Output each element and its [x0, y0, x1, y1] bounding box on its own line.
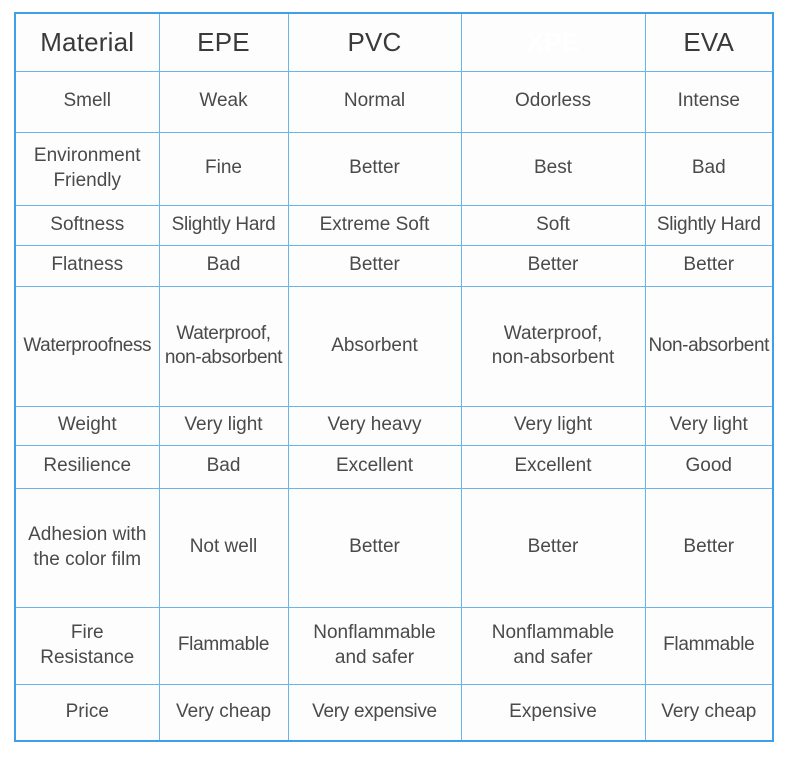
cell-smell-xpe: Odorless [461, 71, 645, 132]
cell-environment-friendly-eva: Bad [645, 132, 773, 205]
table-row: Weight Very light Very heavy Very light … [15, 406, 773, 445]
table-row: Flatness Bad Better Better Better [15, 245, 773, 286]
cell-smell-eva: Intense [645, 71, 773, 132]
row-label-smell: Smell [15, 71, 159, 132]
cell-resilience-eva: Good [645, 445, 773, 488]
cell-environment-friendly-xpe: Best [461, 132, 645, 205]
row-label-weight: Weight [15, 406, 159, 445]
cell-line1: Waterproof, [163, 322, 285, 346]
column-header-eva: EVA [645, 13, 773, 71]
cell-fire-resistance-epe: Flammable [159, 607, 288, 684]
cell-resilience-xpe: Excellent [461, 445, 645, 488]
column-header-pvc: PVC [288, 13, 461, 71]
row-label-line1: Fire [19, 621, 156, 645]
cell-weight-epe: Very light [159, 406, 288, 445]
table-row: Fire Resistance Flammable Nonflammable a… [15, 607, 773, 684]
cell-weight-eva: Very light [645, 406, 773, 445]
cell-resilience-epe: Bad [159, 445, 288, 488]
cell-adhesion-xpe: Better [461, 488, 645, 607]
cell-flatness-pvc: Better [288, 245, 461, 286]
cell-line1: Nonflammable [292, 621, 458, 645]
cell-adhesion-epe: Not well [159, 488, 288, 607]
cell-fire-resistance-xpe: Nonflammable and safer [461, 607, 645, 684]
cell-adhesion-pvc: Better [288, 488, 461, 607]
cell-softness-xpe: Soft [461, 205, 645, 245]
cell-flatness-eva: Better [645, 245, 773, 286]
cell-price-xpe: Expensive [461, 684, 645, 741]
row-label-price: Price [15, 684, 159, 741]
cell-environment-friendly-pvc: Better [288, 132, 461, 205]
row-label-line1: Environment [19, 144, 156, 168]
row-label-line2: Friendly [19, 169, 156, 193]
cell-waterproofness-pvc: Absorbent [288, 286, 461, 406]
row-label-resilience: Resilience [15, 445, 159, 488]
cell-smell-pvc: Normal [288, 71, 461, 132]
cell-softness-pvc: Extreme Soft [288, 205, 461, 245]
cell-line1: Waterproof, [465, 322, 642, 346]
row-label-environment-friendly: Environment Friendly [15, 132, 159, 205]
row-label-softness: Softness [15, 205, 159, 245]
cell-price-pvc: Very expensive [288, 684, 461, 741]
table-row: Waterproofness Waterproof, non-absorbent… [15, 286, 773, 406]
cell-line2: non-absorbent [465, 346, 642, 370]
cell-price-eva: Very cheap [645, 684, 773, 741]
cell-waterproofness-epe: Waterproof, non-absorbent [159, 286, 288, 406]
column-header-xpe: XPE [461, 13, 645, 71]
table-header-row: Material EPE PVC XPE EVA [15, 13, 773, 71]
table-row: Resilience Bad Excellent Excellent Good [15, 445, 773, 488]
table-row: Smell Weak Normal Odorless Intense [15, 71, 773, 132]
cell-line2: and safer [465, 646, 642, 670]
comparison-table-container: Material EPE PVC XPE EVA Smell Weak Norm… [14, 12, 772, 740]
row-label-waterproofness: Waterproofness [15, 286, 159, 406]
cell-resilience-pvc: Excellent [288, 445, 461, 488]
cell-fire-resistance-pvc: Nonflammable and safer [288, 607, 461, 684]
column-header-material: Material [15, 13, 159, 71]
cell-flatness-epe: Bad [159, 245, 288, 286]
table-row: Price Very cheap Very expensive Expensiv… [15, 684, 773, 741]
row-label-line2: Resistance [19, 646, 156, 670]
cell-price-epe: Very cheap [159, 684, 288, 741]
row-label-adhesion: Adhesion with the color film [15, 488, 159, 607]
cell-softness-eva: Slightly Hard [645, 205, 773, 245]
cell-softness-epe: Slightly Hard [159, 205, 288, 245]
cell-fire-resistance-eva: Flammable [645, 607, 773, 684]
cell-line2: and safer [292, 646, 458, 670]
table-row: Environment Friendly Fine Better Best Ba… [15, 132, 773, 205]
row-label-line1: Adhesion with [19, 523, 156, 547]
column-header-epe: EPE [159, 13, 288, 71]
row-label-fire-resistance: Fire Resistance [15, 607, 159, 684]
material-comparison-table: Material EPE PVC XPE EVA Smell Weak Norm… [14, 12, 774, 742]
table-row: Softness Slightly Hard Extreme Soft Soft… [15, 205, 773, 245]
cell-smell-epe: Weak [159, 71, 288, 132]
cell-weight-pvc: Very heavy [288, 406, 461, 445]
table-row: Adhesion with the color film Not well Be… [15, 488, 773, 607]
cell-waterproofness-eva: Non-absorbent [645, 286, 773, 406]
row-label-line2: the color film [19, 548, 156, 572]
cell-environment-friendly-epe: Fine [159, 132, 288, 205]
cell-adhesion-eva: Better [645, 488, 773, 607]
cell-waterproofness-xpe: Waterproof, non-absorbent [461, 286, 645, 406]
cell-line2: non-absorbent [163, 346, 285, 370]
cell-line1: Nonflammable [465, 621, 642, 645]
cell-flatness-xpe: Better [461, 245, 645, 286]
cell-weight-xpe: Very light [461, 406, 645, 445]
row-label-flatness: Flatness [15, 245, 159, 286]
